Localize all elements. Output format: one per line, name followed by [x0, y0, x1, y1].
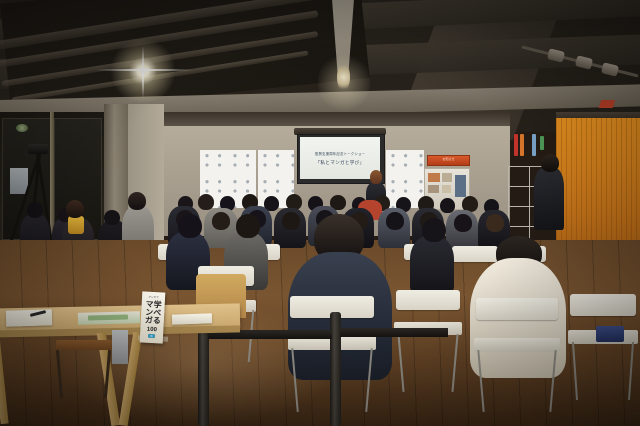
poster-item-3 [428, 185, 439, 193]
chair-back [396, 290, 460, 310]
poster-item-1 [428, 173, 440, 182]
hanging-strip-blue [532, 134, 536, 156]
left-audience-head-1 [27, 202, 43, 218]
table-leg-bracket [112, 330, 128, 364]
chair-back [476, 298, 558, 320]
stanchion-belt-2 [340, 328, 448, 337]
blue-bag-on-chair [596, 326, 624, 342]
hanging-strip-green [540, 136, 544, 150]
window-reflection-light [16, 124, 28, 132]
poster-item-4 [442, 185, 451, 193]
grey-hoodie-head [128, 192, 146, 210]
audience-head [212, 212, 230, 230]
standing-man-body [534, 168, 564, 230]
red-wall-marker [599, 100, 616, 108]
yellow-scarf [68, 216, 84, 234]
wooden-stool [56, 340, 112, 350]
standee-top-line: マンガで [148, 295, 159, 300]
orange-wall-sign: お知らせ [427, 155, 470, 166]
book-standee: マンガで 学べるマンガ 100 冊 [140, 291, 166, 343]
projection-screen: 復興支援周年記念トークショー 「私とマンガと学び」 [300, 137, 380, 179]
audience-head [198, 194, 214, 210]
chair-back [452, 246, 498, 262]
audience-head [454, 214, 472, 232]
audience-head [386, 212, 404, 230]
standing-man-head [541, 154, 559, 172]
green-booklet-band [88, 314, 128, 320]
event-photo-scene: 復興支援周年記念トークショー 「私とマンガと学び」 お知らせ [0, 0, 640, 426]
audience-head [282, 212, 300, 230]
left-audience-head-3 [104, 210, 120, 225]
audience-head [486, 214, 504, 232]
standee-badge: 冊 [148, 334, 155, 338]
chair-seat [474, 338, 560, 352]
scarf-woman-head [66, 200, 84, 218]
standee-main-text: 学べるマンガ [144, 300, 161, 327]
near-audience-head-left [178, 214, 202, 238]
poster-standing-person [455, 175, 466, 197]
spotlight-streak-vertical [142, 46, 144, 98]
standee-number: 100 [147, 327, 157, 334]
hanging-strip-orange [520, 134, 524, 156]
slide-subtitle: 復興支援周年記念トークショー [315, 151, 365, 156]
video-camera [28, 144, 48, 154]
pendant-light-bulb [337, 62, 350, 92]
speaker-head [370, 170, 382, 184]
poster-item-2 [442, 173, 452, 182]
handout-papers-right [172, 313, 212, 324]
near-audience-head-right [422, 218, 446, 242]
slide-title: 「私とマンガと学び」 [316, 160, 365, 166]
near-audience-head-mid [236, 214, 260, 238]
chair-back [570, 294, 636, 316]
orange-sign-text: お知らせ [428, 156, 469, 163]
spotlight-streak-horizontal [96, 69, 192, 71]
hanging-strip-red [514, 134, 518, 156]
near-audience-body-right [410, 236, 454, 294]
